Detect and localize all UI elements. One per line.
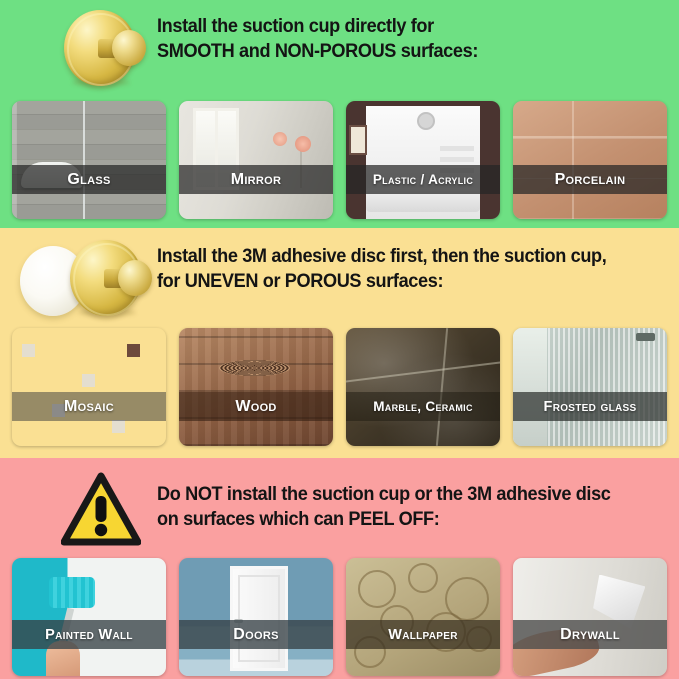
- section-smooth-nonporous: Install the suction cup directly for SMO…: [0, 0, 679, 228]
- mirror-room-photo: [179, 101, 333, 219]
- card-label-band: Plastic / Acrylic: [346, 165, 500, 194]
- surface-card-plastic-acrylic[interactable]: Plastic / Acrylic: [346, 101, 500, 219]
- surface-card-wood[interactable]: Wood: [179, 328, 333, 446]
- heading-line-1: Install the suction cup directly for: [157, 14, 478, 39]
- door-photo: [179, 558, 333, 676]
- painted-wall-photo: [12, 558, 166, 676]
- section-uneven-header: Install the 3M adhesive disc first, then…: [0, 228, 679, 324]
- surface-label: Drywall: [560, 626, 620, 644]
- frosted-glass-photo: [513, 328, 667, 446]
- section-smooth-heading: Install the suction cup directly for SMO…: [157, 14, 478, 64]
- white-3m-disc-with-gold-suction-cup-icon: [20, 236, 152, 328]
- mosaic-tile-photo: [12, 328, 166, 446]
- card-label-band: Wood: [179, 392, 333, 421]
- surface-label: Marble, Ceramic: [373, 399, 473, 414]
- section-smooth-header: Install the suction cup directly for SMO…: [0, 0, 679, 96]
- heading-line-1: Do NOT install the suction cup or the 3M…: [157, 482, 611, 507]
- surface-card-wallpaper[interactable]: Wallpaper: [346, 558, 500, 676]
- section-do-not-install: Do NOT install the suction cup or the 3M…: [0, 458, 679, 679]
- surface-card-painted-wall[interactable]: Painted Wall: [12, 558, 166, 676]
- card-label-band: Porcelain: [513, 165, 667, 194]
- heading-line-2: SMOOTH and NON-POROUS surfaces:: [157, 39, 478, 64]
- section-uneven-heading: Install the 3M adhesive disc first, then…: [157, 244, 606, 294]
- wood-plank-photo: [179, 328, 333, 446]
- infographic-sheet: Install the suction cup directly for SMO…: [0, 0, 679, 679]
- acrylic-shower-unit-photo: [346, 101, 500, 219]
- card-label-band: Drywall: [513, 620, 667, 649]
- heading-line-2: on surfaces which can PEEL OFF:: [157, 507, 611, 532]
- surface-label: Frosted glass: [544, 399, 637, 415]
- surface-card-row-smooth: Glass Mirror Plastic / Acrylic: [12, 101, 667, 219]
- card-label-band: Frosted glass: [513, 392, 667, 421]
- card-label-band: Glass: [12, 165, 166, 194]
- card-label-band: Marble, Ceramic: [346, 392, 500, 421]
- wallpaper-photo: [346, 558, 500, 676]
- warning-triangle-icon: [61, 472, 141, 548]
- surface-card-marble-ceramic[interactable]: Marble, Ceramic: [346, 328, 500, 446]
- surface-card-mirror[interactable]: Mirror: [179, 101, 333, 219]
- surface-card-row-do-not: Painted Wall Doors: [12, 558, 667, 676]
- card-label-band: Wallpaper: [346, 620, 500, 649]
- surface-label: Wood: [235, 398, 276, 416]
- heading-line-2: for UNEVEN or POROUS surfaces:: [157, 269, 606, 294]
- surface-card-doors[interactable]: Doors: [179, 558, 333, 676]
- surface-card-drywall[interactable]: Drywall: [513, 558, 667, 676]
- porcelain-tile-photo: [513, 101, 667, 219]
- surface-label: Plastic / Acrylic: [373, 172, 473, 187]
- drywall-photo: [513, 558, 667, 676]
- section-do-not-header: Do NOT install the suction cup or the 3M…: [0, 458, 679, 554]
- heading-line-1: Install the 3M adhesive disc first, then…: [157, 244, 606, 269]
- glass-shower-photo: [12, 101, 166, 219]
- surface-label: Mirror: [231, 171, 282, 189]
- surface-card-porcelain[interactable]: Porcelain: [513, 101, 667, 219]
- surface-label: Glass: [67, 171, 110, 189]
- section-uneven-porous: Install the 3M adhesive disc first, then…: [0, 228, 679, 458]
- card-label-band: Painted Wall: [12, 620, 166, 649]
- surface-label: Porcelain: [555, 171, 626, 189]
- surface-card-row-uneven: Mosaic Wood Marble, Ceramic Frosted glas…: [12, 328, 667, 446]
- marble-ceramic-photo: [346, 328, 500, 446]
- card-label-band: Doors: [179, 620, 333, 649]
- surface-label: Mosaic: [64, 398, 114, 416]
- surface-label: Doors: [233, 626, 278, 644]
- surface-label: Wallpaper: [388, 627, 458, 643]
- section-do-not-heading: Do NOT install the suction cup or the 3M…: [157, 482, 611, 532]
- surface-card-frosted-glass[interactable]: Frosted glass: [513, 328, 667, 446]
- gold-suction-cup-icon: [58, 6, 144, 92]
- surface-label: Painted Wall: [45, 627, 133, 643]
- gold-suction-cup-icon: [64, 236, 150, 322]
- surface-card-glass[interactable]: Glass: [12, 101, 166, 219]
- card-label-band: Mosaic: [12, 392, 166, 421]
- surface-card-mosaic[interactable]: Mosaic: [12, 328, 166, 446]
- card-label-band: Mirror: [179, 165, 333, 194]
